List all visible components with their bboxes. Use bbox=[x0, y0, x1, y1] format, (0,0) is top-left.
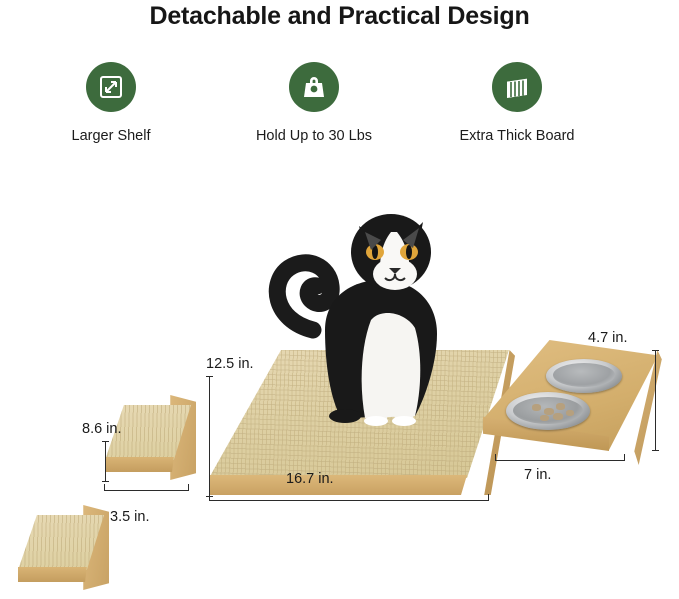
kibble bbox=[566, 410, 574, 416]
feature-larger-shelf: Larger Shelf bbox=[22, 62, 200, 144]
feature-label: Hold Up to 30 Lbs bbox=[225, 128, 403, 144]
dimension-step-width: 3.5 in. bbox=[110, 509, 150, 525]
feature-thick-board: Extra Thick Board bbox=[428, 62, 606, 144]
dimension-tick bbox=[209, 494, 210, 501]
dimension-line-shelf-depth bbox=[209, 376, 210, 496]
kibble bbox=[532, 404, 541, 411]
dimension-line-step-width bbox=[104, 490, 189, 491]
dimension-tick bbox=[495, 454, 496, 461]
dimension-shelf-width: 16.7 in. bbox=[286, 471, 334, 487]
feature-label: Extra Thick Board bbox=[428, 128, 606, 144]
kibble bbox=[540, 415, 549, 421]
product-photo: 12.5 in. 16.7 in. 8.6 in. 3.5 in. 4.7 in… bbox=[0, 160, 679, 599]
dimension-tick bbox=[104, 484, 105, 491]
kibble bbox=[553, 413, 563, 420]
dimension-line-feeder-depth bbox=[655, 350, 656, 450]
dimension-tick bbox=[652, 450, 659, 451]
dimension-feeder-depth: 4.7 in. bbox=[588, 330, 628, 346]
dimension-shelf-depth: 12.5 in. bbox=[206, 356, 254, 372]
feature-label: Larger Shelf bbox=[22, 128, 200, 144]
page-title: Detachable and Practical Design bbox=[0, 2, 679, 31]
dimension-tick bbox=[206, 376, 213, 377]
weight-icon bbox=[289, 62, 339, 112]
dimension-tick bbox=[488, 494, 489, 501]
thick-board-icon bbox=[492, 62, 542, 112]
dimension-line-shelf-width bbox=[209, 500, 489, 501]
dimension-tick bbox=[624, 454, 625, 461]
feature-hold-weight: Hold Up to 30 Lbs bbox=[225, 62, 403, 144]
expand-arrows-icon bbox=[86, 62, 136, 112]
dimension-line-feeder-width bbox=[495, 460, 625, 461]
dimension-tick bbox=[102, 481, 109, 482]
cat-illustration bbox=[255, 170, 485, 460]
dimension-feeder-width: 7 in. bbox=[524, 467, 551, 483]
dimension-tick bbox=[652, 350, 659, 351]
dimension-tick bbox=[102, 441, 109, 442]
feeder-bowl-top-inner bbox=[553, 363, 615, 387]
dimension-line-step-depth bbox=[105, 441, 106, 481]
main-shelf-front-edge bbox=[209, 475, 509, 495]
dimension-step-depth: 8.6 in. bbox=[82, 421, 122, 437]
dimension-tick bbox=[188, 484, 189, 491]
kibble bbox=[556, 403, 565, 410]
